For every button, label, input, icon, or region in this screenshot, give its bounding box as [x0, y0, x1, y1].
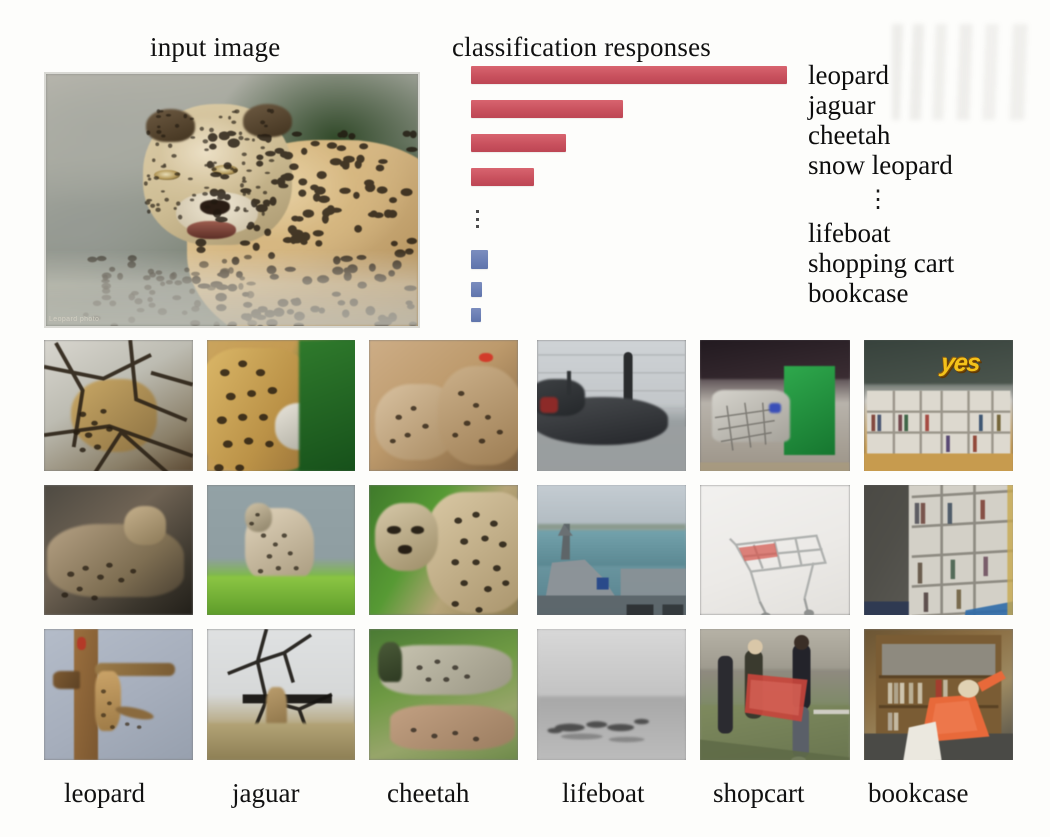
thumbnail-jaguar-foliage [207, 340, 356, 471]
thumbnail-leopard-trunk [44, 629, 193, 760]
chart-bar-shopping-cart [471, 282, 482, 297]
class-label-lifeboat: lifeboat [808, 218, 1044, 248]
chart-bar-cheetah [471, 134, 566, 152]
thumbnail-leopard-tree [44, 340, 193, 471]
classification-responses-title: classification responses [452, 32, 711, 63]
category-label-leopard: leopard [64, 778, 145, 809]
photo-watermark: Leopard photo [49, 316, 99, 323]
chart-bar-leopard [471, 66, 787, 84]
chart-bar-jaguar [471, 100, 623, 118]
thumbnail-ship-harbour [537, 485, 686, 616]
thumbnail-person-orange-bookcase [864, 629, 1013, 760]
thumbnail-cheetah-face [369, 485, 518, 616]
category-label-jaguar: jaguar [232, 778, 299, 809]
chart-bar-bookcase [471, 308, 481, 322]
class-label-cheetah: cheetah [808, 120, 1044, 150]
input-image-title: input image [150, 32, 280, 63]
thumbnail-cheetah-grass [207, 485, 356, 616]
input-image-photo: Leopard photo [44, 72, 420, 328]
yes-overlay-text: yes [940, 349, 982, 378]
category-label-lifeboat: lifeboat [562, 778, 644, 809]
class-label-ellipsis: ⋮ [808, 190, 948, 210]
thumbnail-boat-grey-sea [537, 629, 686, 760]
figure-canvas: input image classification responses Leo… [0, 0, 1050, 837]
photo-foreground-haze [46, 250, 418, 326]
thumbnail-submarine-wall [537, 340, 686, 471]
thumbnail-people-red-cart [700, 629, 849, 760]
thumbnail-cart-wreck-dumpster [700, 340, 849, 471]
class-label-column: leopard jaguar cheetah snow leopard ⋮ li… [808, 60, 1044, 308]
class-label-bookcase: bookcase [808, 278, 1044, 308]
thumbnail-cheetah-pair-sand [369, 340, 518, 471]
class-label-jaguar: jaguar [808, 90, 1044, 120]
thumbnail-cheetah-field [369, 629, 518, 760]
category-label-cheetah: cheetah [387, 778, 469, 809]
thumbnail-cheetah-bare-tree [207, 629, 356, 760]
category-label-bookcase: bookcase [868, 778, 968, 809]
thumbnail-shopping-cart-white [700, 485, 849, 616]
thumbnail-library-shelves [864, 485, 1013, 616]
thumbnail-leopard-resting [44, 485, 193, 616]
class-label-leopard: leopard [808, 60, 1044, 90]
class-label-shopping-cart: shopping cart [808, 248, 1044, 278]
left-thumbnail-grid [44, 340, 518, 760]
classification-bar-chart [471, 64, 811, 314]
thumbnail-bookcase-yes: yes [864, 340, 1013, 471]
chart-bar-lifeboat [471, 250, 488, 269]
class-label-snow-leopard: snow leopard [808, 150, 1044, 180]
chart-bar-snow-leopard [471, 168, 534, 186]
right-thumbnail-grid: yes [537, 340, 1013, 760]
category-label-shopcart: shopcart [713, 778, 804, 809]
chart-ellipsis-marker [475, 210, 480, 228]
